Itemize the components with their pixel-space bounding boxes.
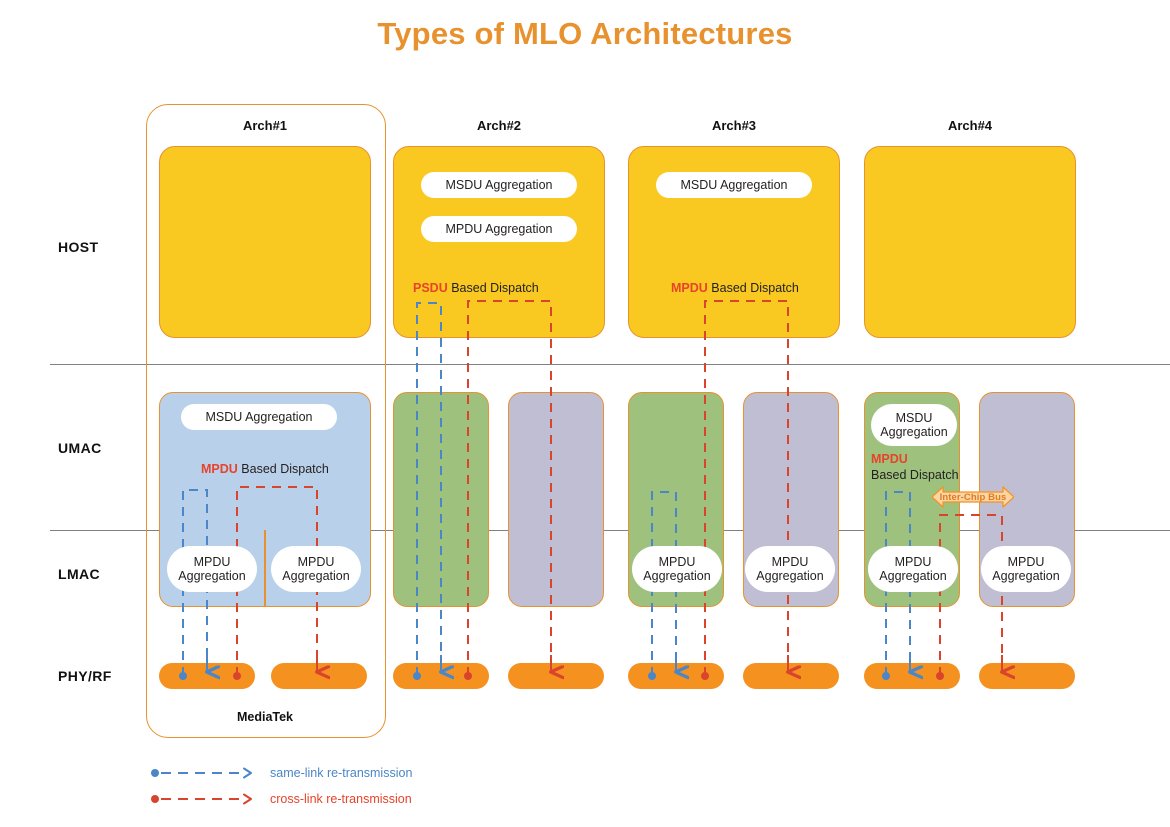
arch4-host-box [864, 146, 1076, 338]
arch-header-1: Arch#1 [146, 118, 384, 133]
same-link-line-icon [150, 766, 260, 780]
arch4-lmac-pill-2: MPDU Aggregation [981, 546, 1071, 592]
arch3-lmac-pill-2-label: MPDU Aggregation [756, 555, 823, 584]
arch-header-3: Arch#3 [628, 118, 840, 133]
arch4-umac-dispatch-rest: Based Dispatch [871, 468, 959, 482]
arch1-lmac-split [264, 530, 266, 607]
mediatek-label: MediaTek [146, 710, 384, 724]
legend-item-same-link: same-link re-transmission [150, 760, 412, 786]
legend-label-cross-link: cross-link re-transmission [270, 792, 412, 806]
arch3-host-pill-msdu: MSDU Aggregation [656, 172, 812, 198]
legend-item-cross-link: cross-link re-transmission [150, 786, 412, 812]
arch4-lmac-pill-2-label: MPDU Aggregation [992, 555, 1059, 584]
diagram-canvas: Types of MLO Architectures HOST UMAC LMA… [0, 0, 1170, 827]
page-title: Types of MLO Architectures [0, 16, 1170, 52]
arch4-umac-pill-msdu-label: MSDU Aggregation [880, 411, 947, 440]
arch3-host-dispatch-rest: Based Dispatch [708, 281, 799, 295]
arch1-umac-dispatch: MPDU Based Dispatch [201, 462, 329, 476]
arch3-lmac-pill-1: MPDU Aggregation [632, 546, 722, 592]
arch2-phy-pill-2 [508, 663, 604, 689]
arch1-umac-dispatch-rest: Based Dispatch [238, 462, 329, 476]
arch1-umac-pill-msdu: MSDU Aggregation [181, 404, 337, 430]
arch1-lmac-pill-1: MPDU Aggregation [167, 546, 257, 592]
legend: same-link re-transmission cross-link re-… [150, 760, 412, 812]
arch-header-2: Arch#2 [393, 118, 605, 133]
arch4-phy-pill-2 [979, 663, 1075, 689]
arch1-phy-pill-2 [271, 663, 367, 689]
arch3-phy-pill-1 [628, 663, 724, 689]
arch4-inter-chip-bus: Inter-Chip Bus [932, 486, 1014, 508]
arch3-lmac-pill-2: MPDU Aggregation [745, 546, 835, 592]
arch1-host-box [159, 146, 371, 338]
arch4-lmac-pill-1-label: MPDU Aggregation [879, 555, 946, 584]
arch2-host-dispatch-highlight: PSDU [413, 281, 448, 295]
legend-label-same-link: same-link re-transmission [270, 766, 412, 780]
arch4-umac-dispatch: MPDU Based Dispatch [871, 452, 971, 483]
arch1-lmac-pill-2: MPDU Aggregation [271, 546, 361, 592]
arch2-host-dispatch: PSDU Based Dispatch [413, 281, 539, 295]
arch3-host-dispatch: MPDU Based Dispatch [671, 281, 799, 295]
arch1-lmac-pill-2-label: MPDU Aggregation [282, 555, 349, 584]
cross-link-line-icon [150, 792, 260, 806]
arch2-umac-lmac-purple-box [508, 392, 604, 607]
arch1-lmac-pill-1-label: MPDU Aggregation [178, 555, 245, 584]
arch2-umac-lmac-green-box [393, 392, 489, 607]
arch2-host-pill-mpdu: MPDU Aggregation [421, 216, 577, 242]
arch3-lmac-pill-1-label: MPDU Aggregation [643, 555, 710, 584]
arch4-phy-pill-1 [864, 663, 960, 689]
arch1-phy-pill-1 [159, 663, 255, 689]
arch1-umac-dispatch-highlight: MPDU [201, 462, 238, 476]
arch4-umac-dispatch-highlight: MPDU [871, 452, 908, 466]
arch2-host-pill-msdu: MSDU Aggregation [421, 172, 577, 198]
arch2-phy-pill-1 [393, 663, 489, 689]
arch4-umac-pill-msdu: MSDU Aggregation [871, 404, 957, 446]
arch3-host-dispatch-highlight: MPDU [671, 281, 708, 295]
arch4-lmac-pill-1: MPDU Aggregation [868, 546, 958, 592]
arch4-inter-chip-bus-label: Inter-Chip Bus [940, 492, 1007, 503]
arch-header-4: Arch#4 [864, 118, 1076, 133]
arch2-host-dispatch-rest: Based Dispatch [448, 281, 539, 295]
arch3-phy-pill-2 [743, 663, 839, 689]
